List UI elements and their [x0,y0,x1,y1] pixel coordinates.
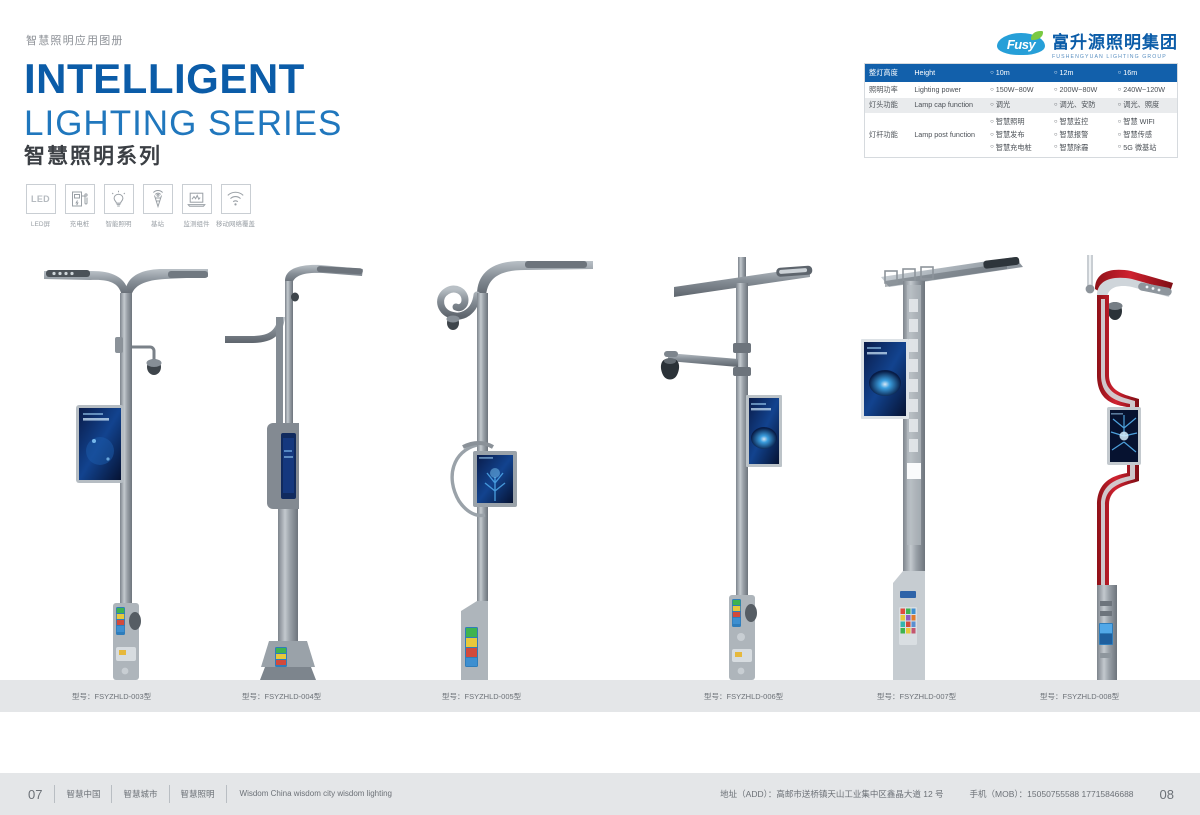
page-title-en-line1: INTELLIGENT [24,58,305,100]
feature-label: 监测组件 [184,218,210,228]
cell-value: ○240W~120W [1114,82,1178,97]
footer-tag: 智慧照明 [169,785,226,803]
product-caption: 型号：FSYZHLD-007型 [877,691,956,702]
row-label-en: Lamp cap function [910,98,986,113]
footer-address: 地址（ADD）：高邮市送桥镇天山工业集中区鑫晶大道 12 号 [720,788,943,800]
product-image-007 [855,255,1030,680]
row-label-en: Height [910,64,986,83]
feature-label: 智能照明 [106,218,132,228]
feature-label: LED屏 [31,218,50,228]
smart-lighting-icon [104,184,134,214]
cell-value: ○调光、照度 [1114,98,1178,113]
page-number-right: 08 [1160,787,1174,802]
logo-mark-text: Fusy [997,33,1045,55]
feature-wifi-coverage: 移动网络覆盖 [220,184,251,228]
table-row-power: 照明功率 Lighting power ○150W~80W ○200W~80W … [865,82,1178,97]
footer-tag: 智慧中国 [54,785,111,803]
cell-value: ○10m [986,64,1050,83]
table-row-lamp-cap: 灯头功能 Lamp cap function ○调光 ○调光、安防 ○调光、照度 [865,98,1178,113]
charging-pile-icon [65,184,95,214]
cell-value: ○200W~80W [1050,82,1114,97]
row-label-en: Lamp post function [910,113,986,157]
cell-value: ○150W~80W [986,82,1050,97]
page-title-cn: 智慧照明系列 [24,146,162,167]
cell-value: ○调光 [986,98,1050,113]
monitoring-component-icon [182,184,212,214]
led-screen-icon: LED [26,184,56,214]
product-image-005 [415,255,615,680]
feature-base-station: 基站 [142,184,173,228]
product-image-006 [650,255,835,680]
logo-name-cn: 富升源照明集团 [1052,28,1178,53]
led-screen-icon-text: LED [31,194,50,204]
page-footer: 07 智慧中国 智慧城市 智慧照明 Wisdom China wisdom ci… [0,773,1200,815]
feature-charging-pile: 充电桩 [64,184,95,228]
product-caption: 型号：FSYZHLD-005型 [442,691,521,702]
footer-tag: 智慧城市 [111,785,168,803]
cell-value-group: ○智慧照明 ○智慧发布 ○智慧充电桩 [986,113,1050,157]
row-label-en: Lighting power [910,82,986,97]
footer-right-group: 地址（ADD）：高邮市送桥镇天山工业集中区鑫晶大道 12 号 手机（MOB）：1… [720,787,1200,802]
page-kicker: 智慧照明应用图册 [26,32,124,48]
product-caption: 型号：FSYZHLD-006型 [704,691,783,702]
table-row-lamp-post: 灯杆功能 Lamp post function ○智慧照明 ○智慧发布 ○智慧充… [865,113,1178,157]
logo-name-en: FUSHENGYUAN LIGHTING GROUP [1052,54,1178,60]
cell-value-group: ○智慧监控 ○智慧报警 ○智慧除霾 [1050,113,1114,157]
feature-label: 充电桩 [70,218,90,228]
footer-tagline-en: Wisdom China wisdom city wisdom lighting [226,785,393,803]
cell-value: ○12m [1050,64,1114,83]
company-logo: Fusy 富升源照明集团 FUSHENGYUAN LIGHTING GROUP [997,28,1178,60]
product-image-008 [1035,255,1195,680]
base-station-icon [143,184,173,214]
product-caption: 型号：FSYZHLD-008型 [1040,691,1119,702]
feature-icon-row: LED LED屏 充电桩 [25,184,251,228]
product-image-004 [225,255,425,680]
catalog-page: 智慧照明应用图册 INTELLIGENT LIGHTING SERIES 智慧照… [0,0,1200,815]
row-label-cn: 照明功率 [865,82,911,97]
table-row-height: 整灯高度 Height ○10m ○12m ○16m [865,64,1178,83]
product-caption: 型号：FSYZHLD-004型 [242,691,321,702]
feature-led-screen: LED LED屏 [25,184,56,228]
cell-value-group: ○智慧 WIFI ○智慧传感 ○5G 微基站 [1114,113,1178,157]
row-label-cn: 灯头功能 [865,98,911,113]
cell-value: ○16m [1114,64,1178,83]
feature-label: 基站 [151,218,164,228]
specification-table: 整灯高度 Height ○10m ○12m ○16m 照明功率 Lighting… [864,63,1178,158]
footer-mobile: 手机（MOB）：15050755588 17715846688 [970,788,1134,800]
feature-label: 移动网络覆盖 [216,218,255,228]
logo-mark-icon: Fusy [997,33,1045,55]
product-image-003 [30,255,225,680]
feature-monitoring: 监测组件 [181,184,212,228]
cell-value: ○调光、安防 [1050,98,1114,113]
row-label-cn: 整灯高度 [865,64,911,83]
product-showcase [0,250,1200,680]
footer-left-group: 07 智慧中国 智慧城市 智慧照明 Wisdom China wisdom ci… [0,785,392,803]
product-caption: 型号：FSYZHLD-003型 [72,691,151,702]
page-number-left: 07 [28,787,42,802]
page-title-en-line2: LIGHTING SERIES [24,106,342,141]
wifi-coverage-icon [221,184,251,214]
feature-smart-lighting: 智能照明 [103,184,134,228]
product-caption-bar: 型号：FSYZHLD-003型 型号：FSYZHLD-004型 型号：FSYZH… [0,680,1200,712]
row-label-cn: 灯杆功能 [865,113,911,157]
